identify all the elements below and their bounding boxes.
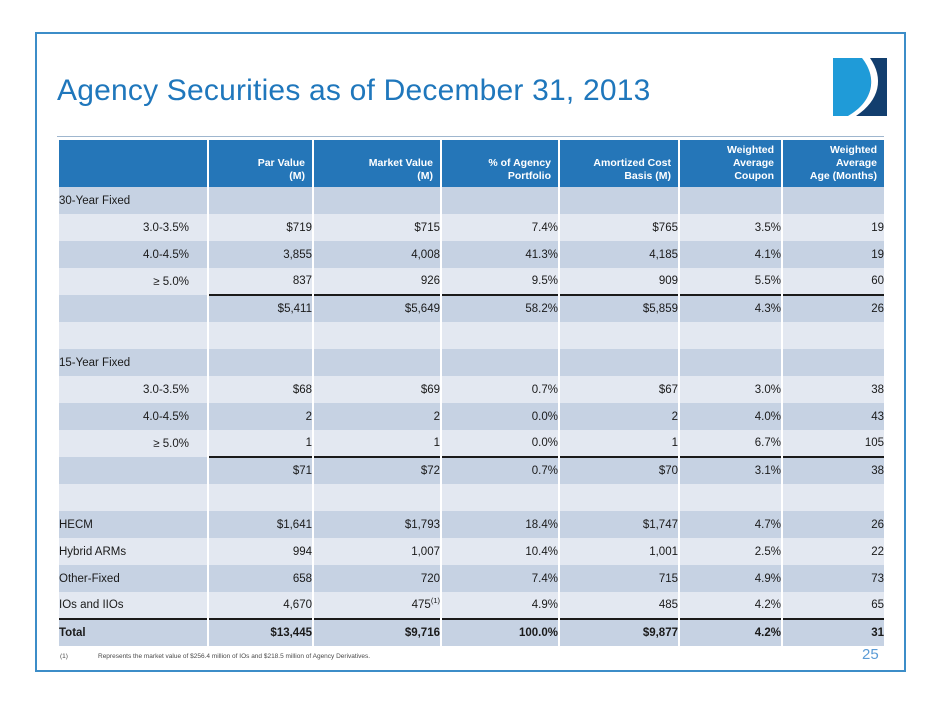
- row-cell-2: [313, 187, 441, 214]
- row-cell-2: 475(1): [313, 592, 441, 619]
- row-cell-3: 41.3%: [441, 241, 559, 268]
- row-cell-2: 720: [313, 565, 441, 592]
- row-cell-1: 994: [208, 538, 313, 565]
- row-cell-3: 0.7%: [441, 457, 559, 484]
- row-label: Hybrid ARMs: [58, 538, 208, 565]
- row-cell-2: 2: [313, 403, 441, 430]
- row-cell-5: 4.2%: [679, 592, 782, 619]
- row-cell-2: [313, 484, 441, 511]
- table-row: Total$13,445$9,716100.0%$9,8774.2%31: [58, 619, 885, 646]
- row-label: IOs and IIOs: [58, 592, 208, 619]
- row-cell-4: [559, 484, 679, 511]
- row-cell-1: $68: [208, 376, 313, 403]
- row-cell-5: 5.5%: [679, 268, 782, 295]
- row-label: Other-Fixed: [58, 565, 208, 592]
- row-cell-4: [559, 322, 679, 349]
- page-number: 25: [862, 646, 879, 663]
- row-label: 4.0-4.5%: [58, 241, 208, 268]
- row-cell-6: 43: [782, 403, 885, 430]
- row-cell-3: 4.9%: [441, 592, 559, 619]
- row-cell-6: 19: [782, 241, 885, 268]
- row-cell-1: $5,411: [208, 295, 313, 322]
- table-header-blank: [58, 140, 208, 187]
- row-cell-6: 60: [782, 268, 885, 295]
- row-label: [58, 484, 208, 511]
- row-cell-2: 926: [313, 268, 441, 295]
- cell-value: 475: [412, 599, 431, 611]
- row-cell-4: $1,747: [559, 511, 679, 538]
- row-cell-5: 4.1%: [679, 241, 782, 268]
- row-cell-1: 4,670: [208, 592, 313, 619]
- row-cell-5: [679, 349, 782, 376]
- row-cell-6: [782, 187, 885, 214]
- row-cell-5: [679, 187, 782, 214]
- header-line-1: % of Agency: [446, 157, 551, 170]
- row-cell-5: 6.7%: [679, 430, 782, 457]
- row-cell-2: $715: [313, 214, 441, 241]
- row-cell-6: [782, 349, 885, 376]
- row-cell-4: 1: [559, 430, 679, 457]
- table-row: 15-Year Fixed: [58, 349, 885, 376]
- row-cell-3: [441, 484, 559, 511]
- table-row: $71$720.7%$703.1%38: [58, 457, 885, 484]
- row-cell-1: [208, 349, 313, 376]
- footnote-marker: (1): [60, 653, 98, 660]
- row-cell-2: $5,649: [313, 295, 441, 322]
- row-cell-1: [208, 187, 313, 214]
- row-label: ≥ 5.0%: [58, 268, 208, 295]
- row-cell-4: $70: [559, 457, 679, 484]
- row-cell-1: [208, 484, 313, 511]
- row-cell-6: 22: [782, 538, 885, 565]
- row-cell-4: 2: [559, 403, 679, 430]
- row-cell-1: 658: [208, 565, 313, 592]
- row-label: 3.0-3.5%: [58, 214, 208, 241]
- row-cell-4: $765: [559, 214, 679, 241]
- table-row: 3.0-3.5%$719$7157.4%$7653.5%19: [58, 214, 885, 241]
- table-row: 30-Year Fixed: [58, 187, 885, 214]
- row-label: Total: [58, 619, 208, 646]
- row-cell-6: 105: [782, 430, 885, 457]
- row-cell-3: 9.5%: [441, 268, 559, 295]
- row-cell-1: $13,445: [208, 619, 313, 646]
- table-row: ≥ 5.0%110.0%16.7%105: [58, 430, 885, 457]
- row-cell-4: 715: [559, 565, 679, 592]
- row-cell-4: 1,001: [559, 538, 679, 565]
- table-row: IOs and IIOs4,670475(1)4.9%4854.2%65: [58, 592, 885, 619]
- header-line-2: (M): [318, 170, 433, 183]
- table-row: 4.0-4.5%220.0%24.0%43: [58, 403, 885, 430]
- row-cell-6: 19: [782, 214, 885, 241]
- row-cell-1: 837: [208, 268, 313, 295]
- row-cell-3: 0.0%: [441, 403, 559, 430]
- header-line-1: Weighted Average: [787, 144, 877, 170]
- row-label: [58, 295, 208, 322]
- row-label: ≥ 5.0%: [58, 430, 208, 457]
- row-cell-2: 1: [313, 430, 441, 457]
- row-cell-6: 38: [782, 376, 885, 403]
- header-line-2: Basis (M): [564, 170, 671, 183]
- page-title: Agency Securities as of December 31, 201…: [57, 74, 651, 108]
- row-cell-3: 58.2%: [441, 295, 559, 322]
- header-line-2: Coupon: [684, 170, 774, 183]
- row-cell-1: [208, 322, 313, 349]
- row-cell-6: 73: [782, 565, 885, 592]
- row-cell-1: $719: [208, 214, 313, 241]
- row-cell-5: 3.1%: [679, 457, 782, 484]
- table-row: 3.0-3.5%$68$690.7%$673.0%38: [58, 376, 885, 403]
- row-cell-3: [441, 349, 559, 376]
- row-cell-6: 65: [782, 592, 885, 619]
- footnote-text: Represents the market value of $256.4 mi…: [98, 653, 370, 660]
- row-cell-3: 100.0%: [441, 619, 559, 646]
- slide: Agency Securities as of December 31, 201…: [0, 0, 940, 705]
- row-cell-4: $67: [559, 376, 679, 403]
- table-header-cell-1: Par Value(M): [208, 140, 313, 187]
- row-label: [58, 457, 208, 484]
- row-cell-6: 26: [782, 295, 885, 322]
- row-cell-1: 1: [208, 430, 313, 457]
- table-row: Hybrid ARMs9941,00710.4%1,0012.5%22: [58, 538, 885, 565]
- title-underline: [57, 136, 884, 137]
- row-cell-1: 3,855: [208, 241, 313, 268]
- table-header-cell-2: Market Value(M): [313, 140, 441, 187]
- row-cell-6: 38: [782, 457, 885, 484]
- table-row: ≥ 5.0%8379269.5%9095.5%60: [58, 268, 885, 295]
- row-cell-6: 26: [782, 511, 885, 538]
- row-cell-5: [679, 322, 782, 349]
- row-cell-3: 7.4%: [441, 214, 559, 241]
- row-cell-5: 4.9%: [679, 565, 782, 592]
- row-cell-5: 4.7%: [679, 511, 782, 538]
- cell-footnote-marker: (1): [431, 596, 440, 605]
- row-label: 15-Year Fixed: [58, 349, 208, 376]
- agency-securities-table: Par Value(M)Market Value(M)% of AgencyPo…: [57, 140, 884, 646]
- row-cell-5: 3.5%: [679, 214, 782, 241]
- row-label: 4.0-4.5%: [58, 403, 208, 430]
- row-cell-2: $72: [313, 457, 441, 484]
- header-line-1: Par Value: [213, 157, 305, 170]
- row-cell-6: [782, 322, 885, 349]
- row-cell-1: 2: [208, 403, 313, 430]
- row-cell-5: 4.3%: [679, 295, 782, 322]
- row-cell-2: 4,008: [313, 241, 441, 268]
- row-cell-3: 0.0%: [441, 430, 559, 457]
- row-label: 30-Year Fixed: [58, 187, 208, 214]
- row-cell-6: [782, 484, 885, 511]
- row-cell-5: 4.2%: [679, 619, 782, 646]
- row-cell-5: 3.0%: [679, 376, 782, 403]
- table-header-cell-4: Amortized CostBasis (M): [559, 140, 679, 187]
- row-cell-2: [313, 349, 441, 376]
- company-logo-icon: [833, 58, 887, 116]
- table-body: 30-Year Fixed3.0-3.5%$719$7157.4%$7653.5…: [58, 187, 885, 646]
- header-line-2: Age (Months): [787, 170, 877, 183]
- header-line-1: Amortized Cost: [564, 157, 671, 170]
- table-row: [58, 322, 885, 349]
- row-cell-2: [313, 322, 441, 349]
- header-line-1: Weighted Average: [684, 144, 774, 170]
- table-row: [58, 484, 885, 511]
- table-row: Other-Fixed6587207.4%7154.9%73: [58, 565, 885, 592]
- row-cell-2: $1,793: [313, 511, 441, 538]
- row-cell-4: 485: [559, 592, 679, 619]
- row-cell-3: 0.7%: [441, 376, 559, 403]
- row-cell-3: [441, 187, 559, 214]
- row-label: [58, 322, 208, 349]
- row-cell-6: 31: [782, 619, 885, 646]
- row-cell-2: 1,007: [313, 538, 441, 565]
- row-cell-3: 10.4%: [441, 538, 559, 565]
- row-cell-5: 2.5%: [679, 538, 782, 565]
- row-cell-1: $1,641: [208, 511, 313, 538]
- row-label: HECM: [58, 511, 208, 538]
- header-line-2: (M): [213, 170, 305, 183]
- row-label: 3.0-3.5%: [58, 376, 208, 403]
- table-header-row: Par Value(M)Market Value(M)% of AgencyPo…: [58, 140, 885, 187]
- row-cell-5: [679, 484, 782, 511]
- row-cell-3: 7.4%: [441, 565, 559, 592]
- row-cell-3: [441, 322, 559, 349]
- header-line-1: Market Value: [318, 157, 433, 170]
- row-cell-3: 18.4%: [441, 511, 559, 538]
- row-cell-4: $5,859: [559, 295, 679, 322]
- table-row: 4.0-4.5%3,8554,00841.3%4,1854.1%19: [58, 241, 885, 268]
- row-cell-4: 4,185: [559, 241, 679, 268]
- row-cell-2: $9,716: [313, 619, 441, 646]
- row-cell-4: 909: [559, 268, 679, 295]
- row-cell-4: [559, 187, 679, 214]
- row-cell-4: $9,877: [559, 619, 679, 646]
- table-row: HECM$1,641$1,79318.4%$1,7474.7%26: [58, 511, 885, 538]
- footnote: (1)Represents the market value of $256.4…: [60, 653, 370, 660]
- row-cell-4: [559, 349, 679, 376]
- table-row: $5,411$5,64958.2%$5,8594.3%26: [58, 295, 885, 322]
- row-cell-5: 4.0%: [679, 403, 782, 430]
- table-header-cell-6: Weighted AverageAge (Months): [782, 140, 885, 187]
- row-cell-2: $69: [313, 376, 441, 403]
- table-header-cell-3: % of AgencyPortfolio: [441, 140, 559, 187]
- row-cell-1: $71: [208, 457, 313, 484]
- header-line-2: Portfolio: [446, 170, 551, 183]
- table-header-cell-5: Weighted AverageCoupon: [679, 140, 782, 187]
